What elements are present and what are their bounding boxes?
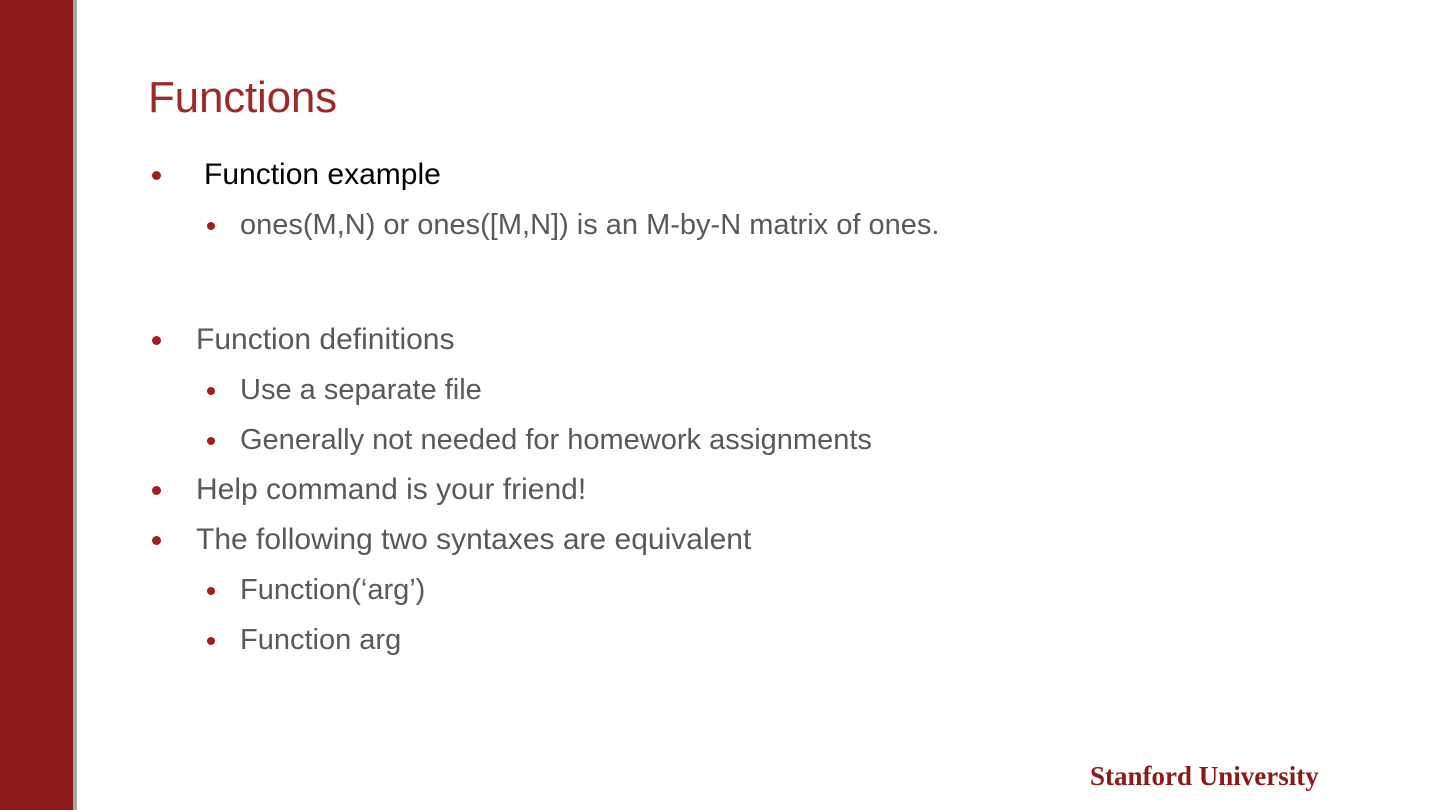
left-accent-rule xyxy=(73,0,77,810)
list-item: Help command is your friend! xyxy=(140,465,1380,515)
list-item: Function(‘arg’) xyxy=(140,565,1380,615)
page-title: Functions xyxy=(148,72,337,124)
list-item-label: Function arg xyxy=(240,615,401,665)
list-item: Generally not needed for homework assign… xyxy=(140,415,1380,465)
list-item: ones(M,N) or ones([M,N]) is an M-by-N ma… xyxy=(140,200,1380,250)
list-item-label: The following two syntaxes are equivalen… xyxy=(196,515,751,565)
list-item: Use a separate file xyxy=(140,365,1380,415)
list-item-label: Function(‘arg’) xyxy=(240,565,425,615)
list-item: Function arg xyxy=(140,615,1380,665)
presentation-slide: Functions Function example ones(M,N) or … xyxy=(0,0,1440,810)
list-item-label: ones(M,N) or ones([M,N]) is an M-by-N ma… xyxy=(240,200,939,250)
list-item-label: Function definitions xyxy=(196,315,455,365)
footer-brand: Stanford University xyxy=(1090,760,1319,792)
list-item: Function definitions xyxy=(140,315,1380,365)
bullet-dot-icon xyxy=(207,437,215,445)
list-item: The following two syntaxes are equivalen… xyxy=(140,515,1380,565)
list-item-label: Function example xyxy=(204,150,441,200)
bullet-dot-icon xyxy=(207,387,215,395)
list-item-label: Generally not needed for homework assign… xyxy=(240,415,872,465)
bullet-list: Function example ones(M,N) or ones([M,N]… xyxy=(140,150,1380,665)
bullet-dot-icon xyxy=(152,536,161,545)
list-item: Function example xyxy=(140,150,1380,200)
list-item-label: Use a separate file xyxy=(240,365,482,415)
list-item-label: Help command is your friend! xyxy=(196,465,586,515)
bullet-dot-icon xyxy=(207,637,215,645)
left-accent-stripe xyxy=(0,0,73,810)
bullet-dot-icon xyxy=(152,336,161,345)
list-spacer xyxy=(140,250,1380,315)
bullet-dot-icon xyxy=(207,222,215,230)
bullet-dot-icon xyxy=(152,486,161,495)
bullet-dot-icon xyxy=(207,587,215,595)
bullet-dot-icon xyxy=(152,171,161,180)
